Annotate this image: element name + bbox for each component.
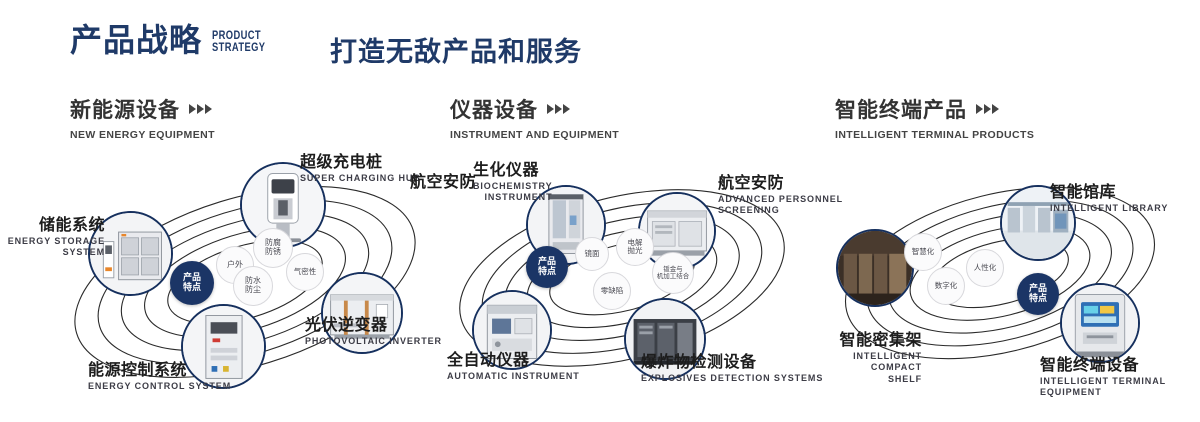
chevron-right-icon bbox=[547, 104, 570, 114]
label-energy-storage-system: 储能系统 ENERGY STORAGE SYSTEM bbox=[0, 215, 105, 259]
section-title-en: NEW ENERGY EQUIPMENT bbox=[70, 129, 215, 141]
label-cn: 智能馆库 bbox=[1050, 182, 1168, 201]
core-bubble-product-features: 产品 特点 bbox=[170, 261, 214, 305]
label-cn: 全自动仪器 bbox=[447, 350, 580, 369]
feature-bubble-label: 气密性 bbox=[294, 268, 317, 276]
feature-bubble-line2: 防尘 bbox=[245, 286, 261, 295]
core-bubble-line2: 特点 bbox=[1029, 294, 1047, 304]
label-en-line2: SHELF bbox=[800, 374, 922, 385]
label-en-line1: SUPER CHARGING HUB bbox=[300, 173, 421, 184]
section-header-instrument: 仪器设备 INSTRUMENT AND EQUIPMENT bbox=[450, 94, 619, 141]
label-en-line1: PHOTOVOLTAIC INVERTER bbox=[305, 336, 442, 347]
label-biochemistry-instrument: 生化仪器 BIOCHEMISTRY INSTRUMENT bbox=[473, 160, 552, 204]
label-cn: 智能终端设备 bbox=[1040, 355, 1200, 374]
feature-bubble-line2: 机加工结合 bbox=[657, 273, 690, 280]
chevron-right-icon bbox=[189, 104, 212, 114]
page-title-en-line2: STRATEGY bbox=[212, 41, 265, 54]
page-title-cn: 产品战略 bbox=[70, 24, 202, 56]
label-en-line1: INTELLIGENT LIBRARY bbox=[1050, 203, 1168, 214]
product-circle-compact-shelf[interactable] bbox=[836, 229, 914, 307]
chevron-right-icon bbox=[976, 104, 999, 114]
section-header-intelligent-terminal: 智能终端产品 INTELLIGENT TERMINAL PRODUCTS bbox=[835, 94, 1034, 141]
feature-bubble-sheet-metal-machining: 钣金与 机加工结合 bbox=[652, 252, 694, 294]
core-bubble-product-features: 产品 特点 bbox=[526, 246, 568, 288]
feature-bubble-label: 数字化 bbox=[935, 282, 958, 290]
feature-bubble-label: 智慧化 bbox=[912, 248, 935, 256]
label-cn: 航空安防 bbox=[410, 172, 476, 191]
label-en-line1: INTELLIGENT TERMINAL EQUIPMENT bbox=[1040, 376, 1200, 399]
section-title-en: INTELLIGENT TERMINAL PRODUCTS bbox=[835, 129, 1034, 141]
label-cn: 爆炸物检测设备 bbox=[641, 352, 823, 371]
label-cn: 光伏逆变器 bbox=[305, 315, 442, 334]
label-intelligent-terminal-equipment: 智能终端设备 INTELLIGENT TERMINAL EQUIPMENT bbox=[1040, 355, 1200, 399]
feature-bubble-digital: 数字化 bbox=[927, 267, 965, 305]
label-cn: 能源控制系统 bbox=[88, 360, 231, 379]
label-super-charging-hub: 超级充电桩 SUPER CHARGING HUB bbox=[300, 152, 421, 184]
feature-bubble-mirror-finish: 镜面 bbox=[575, 237, 609, 271]
label-en-line2: INSTRUMENT bbox=[473, 192, 552, 203]
label-en-line1: ENERGY STORAGE bbox=[0, 236, 105, 247]
page-title-en-line1: PRODUCT bbox=[212, 29, 265, 42]
core-bubble-line2: 特点 bbox=[538, 267, 556, 277]
label-intelligent-library: 智能馆库 INTELLIGENT LIBRARY bbox=[1050, 182, 1168, 214]
feature-bubble-label: 人性化 bbox=[974, 264, 997, 272]
product-circle-terminal-equipment[interactable] bbox=[1060, 283, 1140, 363]
label-en-line1: EXPLOSIVES DETECTION SYSTEMS bbox=[641, 373, 823, 384]
label-en-line1: AUTOMATIC INSTRUMENT bbox=[447, 371, 580, 382]
section-title-en: INSTRUMENT AND EQUIPMENT bbox=[450, 129, 619, 141]
core-bubble-product-features: 产品 特点 bbox=[1017, 273, 1059, 315]
label-en-line1: INTELLIGENT COMPACT bbox=[800, 351, 922, 374]
feature-bubble-anti-corrosion: 防腐 防锈 bbox=[253, 228, 293, 268]
section-title-cn: 仪器设备 bbox=[450, 94, 538, 124]
section-header-new-energy: 新能源设备 NEW ENERGY EQUIPMENT bbox=[70, 94, 215, 141]
label-cn: 智能密集架 bbox=[800, 330, 922, 349]
label-en-line1: ENERGY CONTROL SYSTEM bbox=[88, 381, 231, 392]
core-bubble-line1: 产品 bbox=[183, 273, 201, 283]
feature-bubble-label: 零缺陷 bbox=[601, 287, 624, 295]
label-energy-control-system: 能源控制系统 ENERGY CONTROL SYSTEM bbox=[88, 360, 231, 392]
page-subtitle: 打造无敌产品和服务 bbox=[330, 30, 582, 69]
label-aviation-security-left: 航空安防 bbox=[410, 172, 476, 191]
section-title-cn: 新能源设备 bbox=[70, 94, 180, 124]
feature-bubble-humanized: 人性化 bbox=[966, 249, 1004, 287]
feature-bubble-airtightness: 气密性 bbox=[286, 253, 324, 291]
feature-bubble-line2: 防锈 bbox=[265, 248, 281, 257]
label-photovoltaic-inverter: 光伏逆变器 PHOTOVOLTAIC INVERTER bbox=[305, 315, 442, 347]
core-bubble-line1: 产品 bbox=[1029, 284, 1047, 294]
feature-bubble-label: 户外 bbox=[227, 261, 243, 270]
product-strategy-infographic: 产品战略 PRODUCT STRATEGY 打造无敌产品和服务 新能源设备 NE… bbox=[0, 0, 1200, 422]
label-cn: 超级充电桩 bbox=[300, 152, 421, 171]
section-title-cn: 智能终端产品 bbox=[835, 94, 967, 124]
label-en-line1: BIOCHEMISTRY bbox=[473, 181, 552, 192]
feature-bubble-label: 镜面 bbox=[585, 250, 600, 258]
feature-bubble-electrolytic-polishing: 电解 抛光 bbox=[616, 228, 654, 266]
label-cn: 生化仪器 bbox=[473, 160, 552, 179]
core-bubble-line1: 产品 bbox=[538, 257, 556, 267]
label-intelligent-compact-shelf: 智能密集架 INTELLIGENT COMPACT SHELF bbox=[800, 330, 922, 385]
label-explosives-detection-systems: 爆炸物检测设备 EXPLOSIVES DETECTION SYSTEMS bbox=[641, 352, 823, 384]
feature-bubble-zero-defect: 零缺陷 bbox=[593, 272, 631, 310]
security-gate-icon bbox=[438, 234, 468, 264]
page-header: 产品战略 PRODUCT STRATEGY bbox=[70, 24, 280, 56]
page-title-en: PRODUCT STRATEGY bbox=[212, 29, 265, 54]
feature-bubble-waterproof: 防水 防尘 bbox=[233, 266, 273, 306]
core-bubble-line2: 特点 bbox=[183, 283, 201, 293]
self-service-kiosk-icon bbox=[1062, 285, 1138, 361]
feature-bubble-smart: 智慧化 bbox=[904, 233, 942, 271]
feature-bubble-line2: 抛光 bbox=[628, 247, 643, 255]
compact-shelf-icon bbox=[838, 231, 912, 305]
label-en-line2: SYSTEM bbox=[0, 247, 105, 258]
label-automatic-instrument: 全自动仪器 AUTOMATIC INSTRUMENT bbox=[447, 350, 580, 382]
label-cn: 储能系统 bbox=[0, 215, 105, 234]
